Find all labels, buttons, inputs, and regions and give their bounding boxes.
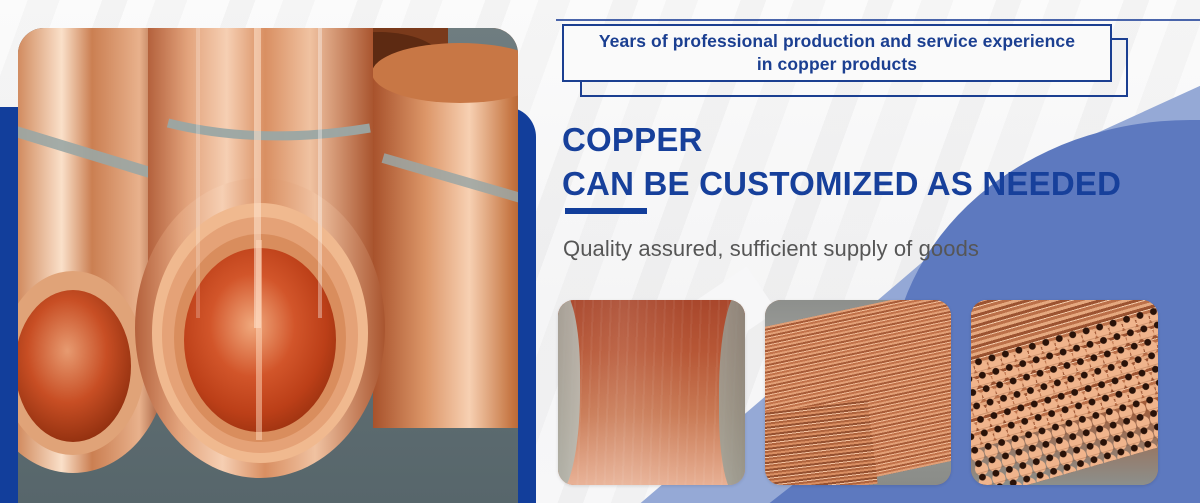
copper-coil-photo (18, 28, 518, 503)
header-tagline-line1: Years of professional production and ser… (599, 31, 1075, 51)
page-title-line1: COPPER (562, 121, 703, 158)
copper-tubes-photo-ends (971, 309, 1158, 485)
thumbnail-copper-rods[interactable] (765, 300, 952, 485)
page-title: COPPER CAN BE CUSTOMIZED AS NEEDED (562, 118, 1121, 205)
top-divider-rule (556, 19, 1200, 21)
header-tagline: Years of professional production and ser… (589, 30, 1085, 77)
copper-plate-photo-edge (719, 300, 745, 485)
copper-tubes-photo (971, 300, 1158, 485)
thumbnail-copper-tubes[interactable] (971, 300, 1158, 485)
product-thumbnail-list (558, 300, 1158, 485)
header-tagline-line2: in copper products (599, 53, 1075, 76)
page-title-line2: CAN BE CUSTOMIZED AS NEEDED (562, 162, 1121, 206)
hero-image (18, 28, 518, 503)
title-underline-accent (565, 208, 647, 214)
copper-plate-photo (558, 300, 745, 485)
copper-promo-banner: Years of professional production and ser… (0, 0, 1200, 503)
page-subtitle: Quality assured, sufficient supply of go… (563, 236, 979, 262)
thumbnail-copper-plate[interactable] (558, 300, 745, 485)
header-box: Years of professional production and ser… (562, 24, 1112, 82)
copper-rods-photo (765, 300, 952, 485)
